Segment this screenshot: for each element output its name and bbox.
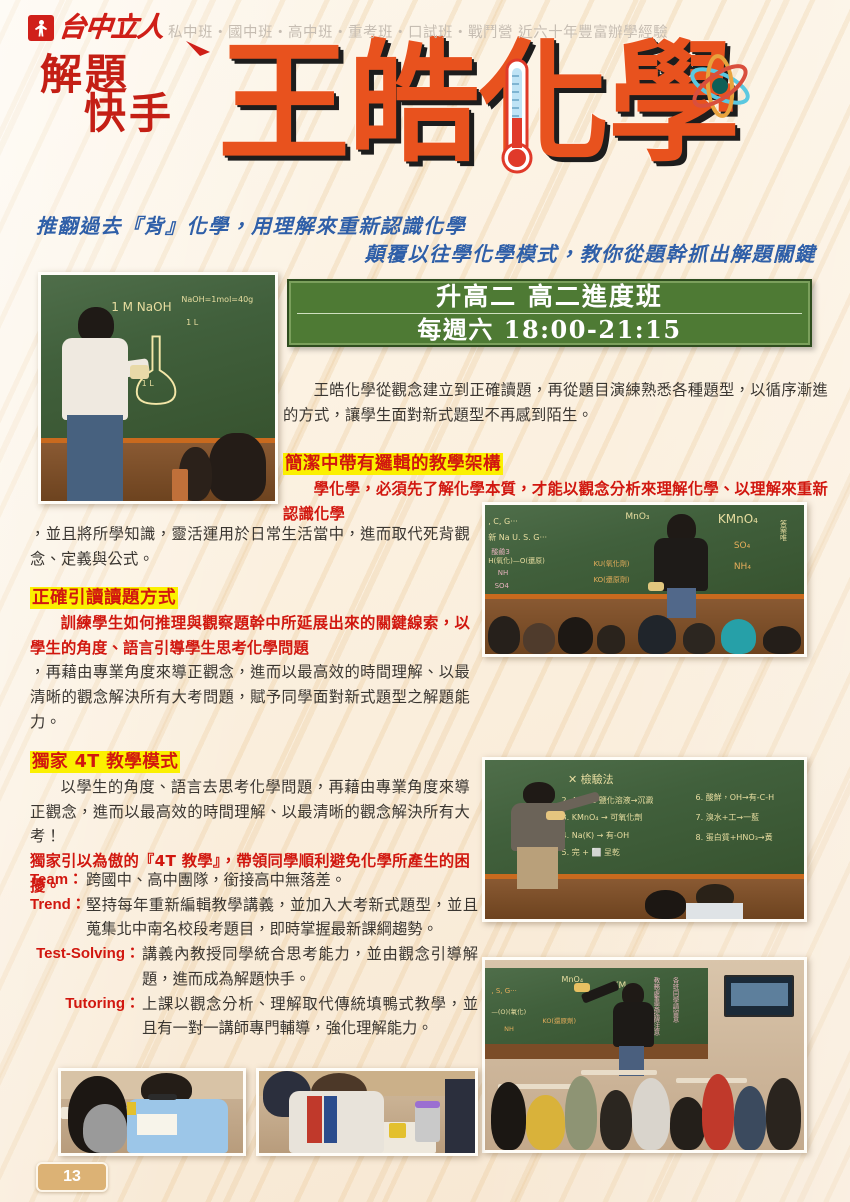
four-t-key: Test-Solving： — [30, 942, 142, 966]
section-4t-lead: 以學生的角度、語言去思考化學問題，再藉由專業角度來導正觀念，進而以最高效的時間理… — [30, 775, 470, 849]
photo-classroom-wide: MnO₄ KM , S, G··· —(O)(氧化) KO(還原劑) NH 教務… — [482, 957, 807, 1153]
section-reading-heading: 正確引讀讀題方式 — [30, 587, 178, 609]
photo-students-lab-2 — [256, 1068, 478, 1156]
section-reading-emphasis: 訓練學生如何推理與觀察題幹中所延展出來的關鍵線索，以學生的角度、語言引導學生思考… — [30, 611, 470, 661]
list-item: Test-Solving： 講義內教授同學統合思考能力，並由觀念引導解題，進而成… — [30, 942, 478, 990]
four-t-key: Trend： — [30, 893, 86, 917]
section-structure-rest: ，並且將所學知識，靈活運用於日常生活當中，進而取代死背觀念、定義與公式。 — [30, 525, 470, 568]
photo-students-lab-1 — [58, 1068, 246, 1156]
subtitle-line-2: 顛覆以往學化學模式，教你從題幹抓出解題關鍵 — [36, 240, 826, 268]
four-t-key: Team： — [30, 868, 86, 892]
section-structure-emphasis: 學化學，必須先了解化學本質，才能以觀念分析來理解化學、以理解來重新認識化學 — [283, 477, 828, 527]
brand-tagline: 私中班・國中班・高中班・重考班・口試班・戰鬥營 近六十年豐富辦學經驗 — [168, 26, 668, 42]
section-structure-heading: 簡潔中帶有邏輯的教學架構 — [283, 453, 503, 475]
subtitle: 推翻過去『背』化學，用理解來重新認識化學 顛覆以往學化學模式，教你從題幹抓出解題… — [36, 212, 826, 269]
section-structure: 簡潔中帶有邏輯的教學架構 學化學，必須先了解化學本質，才能以觀念分析來理解化學、… — [283, 452, 828, 526]
four-t-key: Tutoring： — [30, 992, 142, 1016]
four-t-value: 上課以觀念分析、理解取代傳統填鴨式教學，並且有一對一講師專門輔導，強化理解能力。 — [142, 992, 478, 1040]
person-in-box-icon — [28, 15, 54, 41]
intro-text: 王皓化學從觀念建立到正確讀題，再從題目演練熟悉各種題型，以循序漸進的方式，讓學生… — [283, 378, 828, 428]
course-name: 升高二 高二進度班 — [297, 282, 802, 314]
four-t-list: Team： 跨國中、高中團隊，銜接高中無落差。 Trend： 堅持每年重新編輯教… — [30, 868, 478, 1041]
list-item: Tutoring： 上課以觀念分析、理解取代傳統填鴨式教學，並且有一對一講師專門… — [30, 992, 478, 1040]
four-t-value: 講義內教授同學統合思考能力，並由觀念引導解題，進而成為解題快手。 — [142, 942, 478, 990]
four-t-value: 跨國中、高中團隊，銜接高中無落差。 — [86, 868, 478, 892]
section-structure-continued: ，並且將所學知識，靈活運用於日常生活當中，進而取代死背觀念、定義與公式。 — [30, 522, 470, 572]
section-reading-rest: ，再藉由專業角度來導正觀念，進而以最高效的時間理解、以最清晰的觀念解決所有大考問… — [30, 663, 470, 731]
list-item: Trend： 堅持每年重新編輯教學講義，並加入大考新式題型，並且蒐集北中南名校段… — [30, 893, 478, 941]
course-schedule: 每週六 18:00-21:15 — [289, 314, 810, 345]
brand-name: 台中立人 — [58, 14, 165, 41]
brand-bar: 台中立人 私中班・國中班・高中班・重考班・口試班・戰鬥營 近六十年豐富辦學經驗 — [28, 14, 668, 41]
photo-teacher-list: ✕ 檢驗法 2. Ag, C₂ 鹽化溶液→沉澱 3. KMnO₄ → 可氧化劑 … — [482, 757, 807, 922]
hero-badge: 解題 快手 — [40, 56, 174, 133]
page-title: 王皓化學 — [218, 38, 738, 170]
section-4t-heading: 獨家 4T 教學模式 — [30, 751, 180, 773]
page-number-badge: 13 — [36, 1162, 108, 1192]
thermometer-icon — [500, 58, 534, 176]
section-reading: 正確引讀讀題方式 訓練學生如何推理與觀察題幹中所延展出來的關鍵線索，以學生的角度… — [30, 586, 470, 735]
intro-paragraph: 王皓化學從觀念建立到正確讀題，再從題目演練熟悉各種題型，以循序漸進的方式，讓學生… — [283, 378, 828, 428]
course-banner: 升高二 高二進度班 每週六 18:00-21:15 — [287, 279, 812, 347]
subtitle-line-1: 推翻過去『背』化學，用理解來重新認識化學 — [36, 214, 466, 238]
four-t-value: 堅持每年重新編輯教學講義，並加入大考新式題型，並且蒐集北中南名校段考題目，即時掌… — [86, 893, 478, 941]
red-swoosh-icon — [186, 40, 210, 56]
list-item: Team： 跨國中、高中團隊，銜接高中無落差。 — [30, 868, 478, 892]
hero-badge-line2: 快手 — [84, 95, 174, 134]
photo-teacher-board: 1 M NaOH NaOH=1mol=40g 1 L 1 L — [38, 272, 278, 504]
atom-icon — [684, 50, 756, 122]
